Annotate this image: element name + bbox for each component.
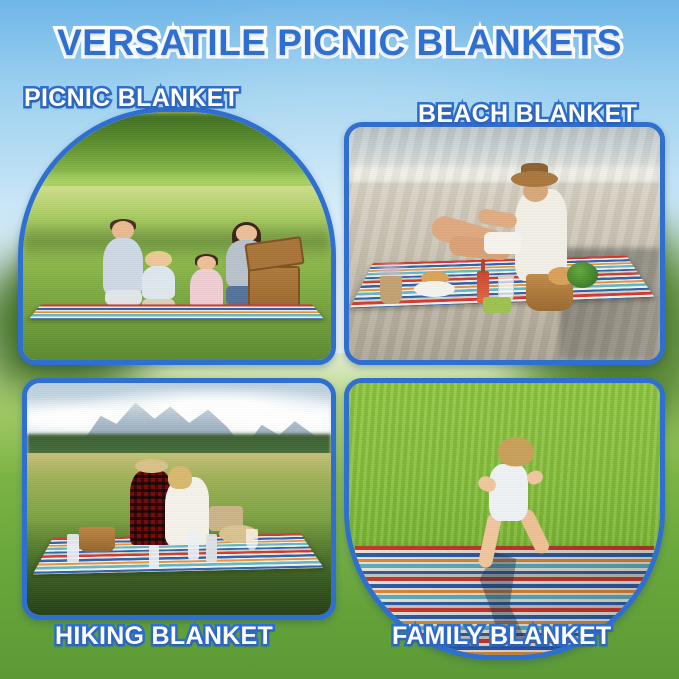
toddler-arm-right (526, 469, 546, 486)
photo-hiking-scene (27, 383, 331, 615)
caption-hiking-blanket: HIKING BLANKET (55, 622, 273, 651)
picnic-father-figure (103, 221, 143, 305)
beach-watermelon (567, 262, 598, 288)
toddler-onesie (489, 464, 529, 521)
hiking-bottle-4 (206, 534, 217, 562)
sun-hat-brim (511, 171, 558, 187)
woman-shorts (484, 232, 521, 254)
boy-shirt (142, 266, 175, 298)
toddler-figure (477, 437, 545, 568)
caption-family-blanket: FAMILY BLANKET (392, 622, 612, 651)
picnic-trees (23, 112, 331, 176)
panel-family-blanket[interactable] (344, 378, 665, 660)
father-trousers (105, 290, 142, 305)
photo-family-scene (349, 383, 660, 655)
hiking-glass (246, 529, 258, 550)
caption-picnic-blanket: PICNIC BLANKET (24, 84, 239, 113)
beach-couple-figure (483, 169, 567, 281)
page-title: VERSATILE PICNIC BLANKETS (0, 22, 679, 64)
striped-blanket-picnic (29, 304, 325, 319)
caption-beach-blanket: BEACH BLANKET (418, 100, 637, 129)
photo-picnic-scene (23, 112, 331, 360)
hiking-bottle-3 (188, 531, 199, 559)
beach-plate (414, 281, 454, 297)
panel-beach-blanket[interactable] (344, 122, 665, 365)
hiking-bottle-1 (67, 534, 79, 562)
hiking-bottle-2 (149, 545, 160, 568)
panel-picnic-blanket[interactable] (18, 107, 336, 365)
woman-hair (168, 466, 192, 489)
photo-beach-scene (349, 127, 660, 360)
girl-head (197, 256, 216, 270)
beach-vase (380, 276, 402, 304)
father-head (112, 221, 134, 240)
toddler-hair (498, 437, 534, 466)
beach-grapes-box (483, 297, 511, 313)
hiking-wicker-basket (79, 527, 115, 553)
father-shirt (103, 238, 143, 295)
picnic-girl-figure (189, 256, 223, 311)
panel-hiking-blanket[interactable] (22, 378, 336, 620)
girl-top (190, 269, 223, 309)
